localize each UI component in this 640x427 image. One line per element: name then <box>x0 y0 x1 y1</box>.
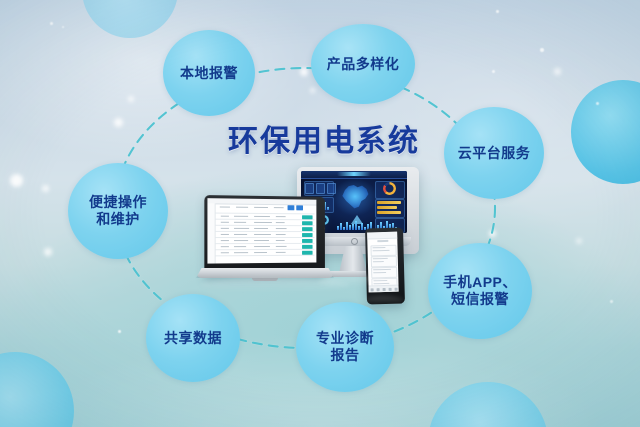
vignette-overlay <box>0 0 640 427</box>
infographic-canvas: 环保用电系统 <box>0 0 640 427</box>
